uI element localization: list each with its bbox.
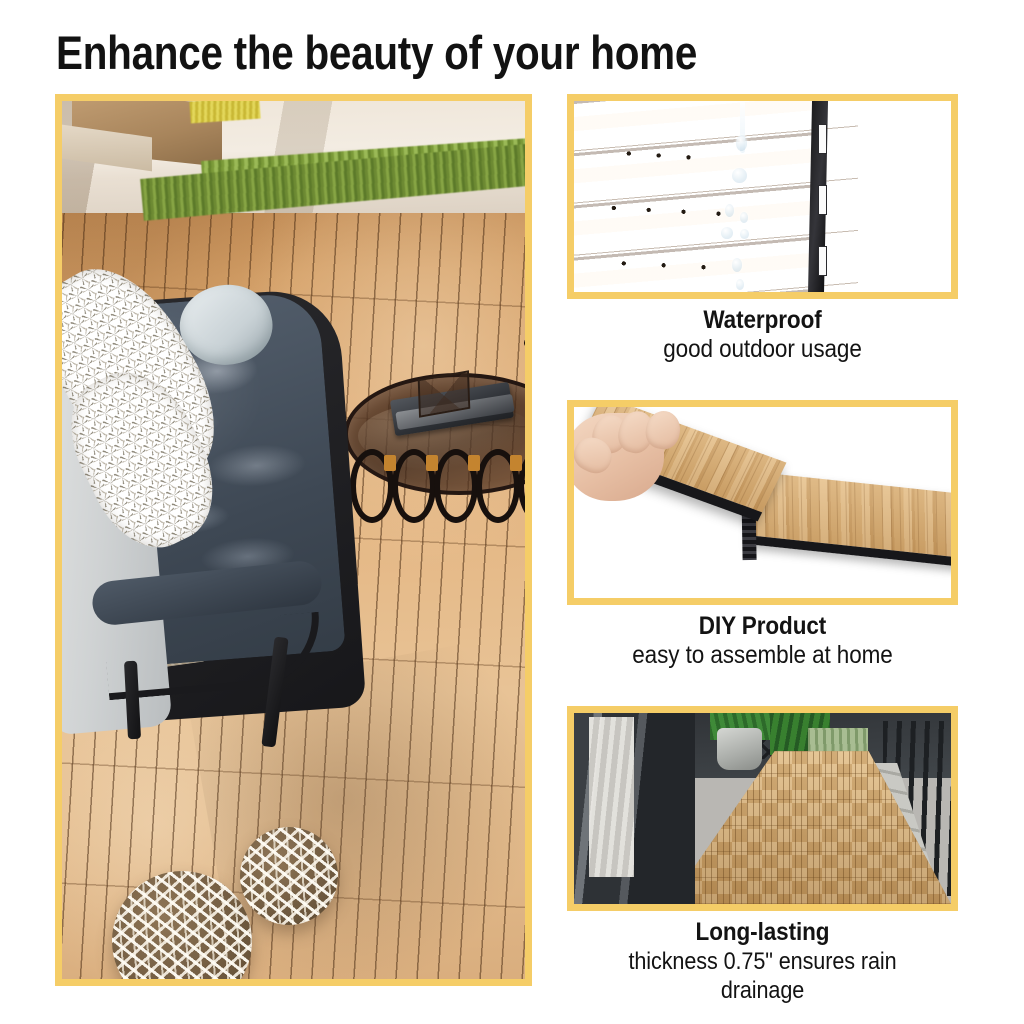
long-lasting-caption-subtitle: thickness 0.75" ensures rain drainage [587,947,939,1005]
wood-grain [747,471,951,559]
water-droplet [725,204,734,217]
base-clip [818,246,827,276]
water-droplet [721,227,733,239]
product-infographic: Enhance the beauty of your home [0,0,1024,1024]
water-droplet [740,229,749,239]
diy-product-photo [574,407,951,598]
waterproof-caption-title: Waterproof [587,306,939,335]
table-base-accent [468,455,480,471]
flower-bouquet [514,319,525,371]
waterproof-photo [574,101,951,292]
table-base-accent [384,455,396,471]
deck-tile-installed [747,471,951,568]
base-clip [818,185,827,215]
diy-image-frame [567,400,958,605]
diy-caption-title: DIY Product [587,612,939,641]
patio-lifestyle-photo [62,101,525,979]
waterproof-caption-subtitle: good outdoor usage [587,335,939,364]
long-lasting-caption: Long-lasting thickness 0.75" ensures rai… [567,918,958,1005]
base-clip [818,124,827,154]
long-lasting-caption-title: Long-lasting [587,918,939,947]
long-lasting-image-frame [567,706,958,911]
hero-image-frame [55,94,532,986]
water-droplet [732,258,742,272]
diy-caption-subtitle: easy to assemble at home [587,641,939,670]
wicker-decor-ball [240,827,338,925]
drainage-holes [574,101,823,292]
water-droplet [736,279,744,290]
waterproof-caption: Waterproof good outdoor usage [567,306,958,364]
concrete-planter [717,728,762,770]
table-base-accent [510,455,522,471]
waterproof-image-frame [567,94,958,299]
water-droplet [732,168,747,183]
diy-caption: DIY Product easy to assemble at home [567,612,958,670]
page-title: Enhance the beauty of your home [56,28,697,78]
water-droplet [740,212,748,223]
table-base-accent [426,455,438,471]
window-curtain [589,717,634,877]
coffee-table-base [350,449,525,537]
long-lasting-photo [574,713,951,904]
